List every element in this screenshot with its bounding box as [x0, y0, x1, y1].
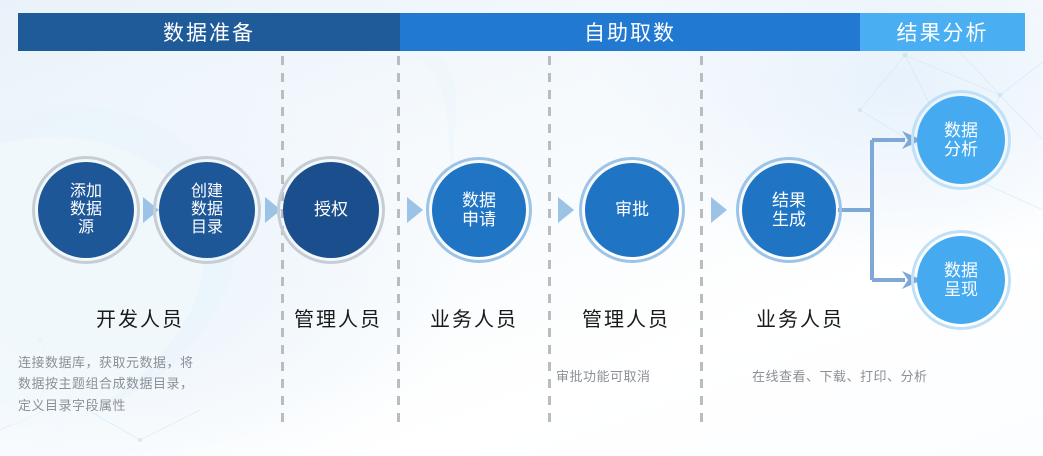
flowchart-canvas: 数据准备 自助取数 结果分析 添加 数据 源 [0, 0, 1043, 456]
node-authorize[interactable]: 授权 [283, 162, 379, 258]
node-create-catalog[interactable]: 创建 数据 目录 [159, 162, 255, 258]
description-result-analysis: 在线查看、下载、打印、分析 [752, 366, 992, 387]
description-approval: 审批功能可取消 [556, 366, 706, 387]
node-data-presentation[interactable]: 数据 呈现 [917, 236, 1005, 324]
node-label: 数据 分析 [940, 121, 982, 159]
node-label: 数据 呈现 [940, 261, 982, 299]
role-text: 管理人员 [294, 309, 382, 331]
role-label-business-2: 业务人员 [700, 303, 900, 332]
role-text: 业务人员 [430, 309, 518, 331]
node-label: 审批 [611, 200, 653, 219]
node-label: 授权 [310, 200, 352, 219]
node-label: 结果 生成 [768, 191, 810, 229]
role-text: 业务人员 [756, 309, 844, 331]
description-data-preparation: 连接数据库，获取元数据，将 数据按主题组合成数据目录， 定义目录字段属性 [18, 352, 270, 416]
arrow-auth-to-request [407, 197, 423, 223]
role-label-developer-1: 开发人员 [40, 303, 240, 332]
node-label: 创建 数据 目录 [187, 183, 227, 237]
role-text: 管理人员 [582, 309, 670, 331]
arrow-approve-to-result [711, 197, 727, 223]
node-result-generate[interactable]: 结果 生成 [742, 163, 836, 257]
arrow-request-to-approve [558, 197, 574, 223]
role-label-manager-2: 管理人员 [526, 303, 726, 332]
node-label: 添加 数据 源 [66, 183, 106, 237]
node-data-analysis[interactable]: 数据 分析 [917, 96, 1005, 184]
node-data-request[interactable]: 数据 申请 [432, 163, 526, 257]
node-approval[interactable]: 审批 [585, 163, 679, 257]
node-label: 数据 申请 [458, 191, 500, 229]
role-text: 开发人员 [96, 309, 184, 331]
node-add-data-source[interactable]: 添加 数据 源 [38, 162, 134, 258]
